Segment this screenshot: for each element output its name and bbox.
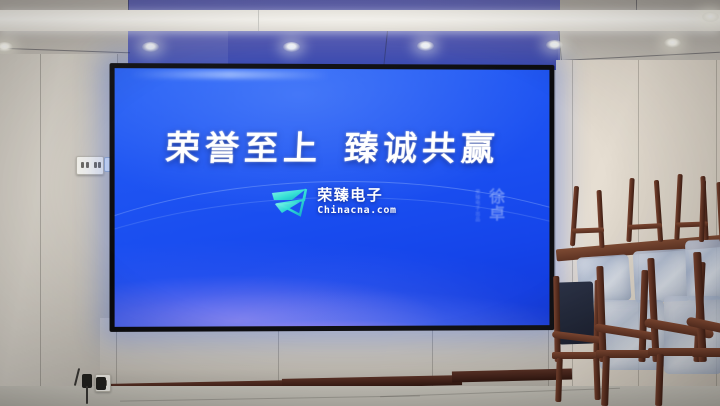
downlight-icon — [702, 12, 719, 22]
led-video-wall[interactable]: 荣誉至上臻诚共赢 荣臻电子出品 徐卓 — [110, 63, 555, 332]
wall-socket-upper[interactable] — [76, 156, 104, 175]
logo-company-en: Chinacna.com — [317, 206, 396, 216]
chair-seat-rail — [692, 348, 720, 357]
socket-hole — [94, 162, 97, 168]
screen-surface[interactable]: 荣誉至上臻诚共赢 荣臻电子出品 徐卓 — [115, 68, 550, 327]
ceiling-light-strip — [0, 10, 720, 31]
room-scene: 荣誉至上臻诚共赢 荣臻电子出品 徐卓 — [0, 0, 720, 406]
logo-text-block: 荣臻电子 Chinacna.com — [317, 188, 396, 216]
screen-logo: 荣臻电子 Chinacna.com — [115, 187, 550, 217]
downlight-icon — [546, 40, 563, 50]
downlight-icon — [142, 42, 159, 52]
power-cord — [86, 386, 88, 404]
wall-panel-seam — [40, 54, 41, 406]
downlight-icon — [664, 38, 681, 48]
downlight-icon — [283, 42, 300, 52]
headline-phrase-2: 臻诚共赢 — [343, 129, 500, 169]
power-adapter-b — [96, 377, 106, 390]
socket-hole — [81, 162, 84, 168]
logo-company-cn: 荣臻电子 — [317, 188, 383, 203]
socket-hole — [98, 162, 101, 168]
socket-hole — [86, 162, 89, 168]
chinacna-arrow-icon — [270, 187, 310, 217]
downlight-icon — [417, 41, 434, 51]
screen-headline: 荣誉至上臻诚共赢 — [115, 120, 550, 170]
headline-phrase-1: 荣誉至上 — [164, 129, 323, 169]
light-strip-joint — [258, 10, 259, 31]
screen-glare — [129, 70, 330, 79]
